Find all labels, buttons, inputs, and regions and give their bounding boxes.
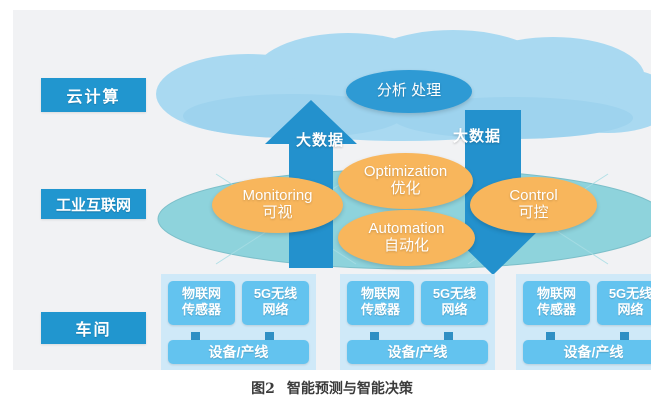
5g-network-box[interactable]: 5G无线 网络 <box>242 281 309 325</box>
node-monitoring-label-cn: 可视 <box>262 205 292 222</box>
5g-network-line2: 网络 <box>242 302 309 318</box>
equipment-line-box[interactable]: 设备/产线 <box>347 340 488 364</box>
node-analysis-label: 分析 处理 <box>377 83 441 100</box>
figure-panel: 大数据 大数据 分析 处理 Monitoring 可视 Optimization… <box>13 10 651 370</box>
tier-label-workshop-text: 车间 <box>75 316 111 340</box>
5g-network-line2: 网络 <box>597 302 651 318</box>
equipment-line-label: 设备/产线 <box>564 342 624 362</box>
iot-sensor-box[interactable]: 物联网 传感器 <box>168 281 235 325</box>
5g-network-line2: 网络 <box>421 302 488 318</box>
5g-network-box[interactable]: 5G无线 网络 <box>597 281 651 325</box>
workshop-top-row: 物联网 传感器 5G无线 网络 <box>168 281 309 325</box>
equipment-line-label: 设备/产线 <box>388 342 448 362</box>
sidebar-item-workshop[interactable]: 车间 <box>41 312 146 344</box>
figure-caption-number: 图2 <box>251 381 275 397</box>
iot-sensor-box[interactable]: 物联网 传感器 <box>347 281 414 325</box>
equipment-line-box[interactable]: 设备/产线 <box>168 340 309 364</box>
node-analysis[interactable]: 分析 处理 <box>346 70 472 113</box>
node-control[interactable]: Control 可控 <box>470 177 597 233</box>
iot-sensor-line1: 物联网 <box>182 286 221 301</box>
figure-caption-text: 智能预测与智能决策 <box>287 381 413 397</box>
iot-sensor-line2: 传感器 <box>347 302 414 318</box>
sidebar-item-cloud-computing[interactable]: 云计算 <box>41 78 146 112</box>
iot-sensor-line1: 物联网 <box>537 286 576 301</box>
sidebar-item-industrial-internet[interactable]: 工业互联网 <box>41 189 146 219</box>
node-automation-label-cn: 自动化 <box>384 238 429 255</box>
workshop-group: 物联网 传感器 5G无线 网络 设备/产线 <box>161 274 316 370</box>
node-automation[interactable]: Automation 自动化 <box>338 210 475 266</box>
5g-network-line1: 5G无线 <box>433 286 476 301</box>
node-monitoring[interactable]: Monitoring 可视 <box>212 177 343 233</box>
workshop-group: 物联网 传感器 5G无线 网络 设备/产线 <box>516 274 651 370</box>
node-control-label-en: Control <box>509 188 557 205</box>
node-optimization-label-cn: 优化 <box>390 181 420 198</box>
node-monitoring-label-en: Monitoring <box>242 188 312 205</box>
5g-network-box[interactable]: 5G无线 网络 <box>421 281 488 325</box>
bigdata-down-label: 大数据 <box>453 125 501 146</box>
equipment-line-box[interactable]: 设备/产线 <box>523 340 651 364</box>
node-automation-label-en: Automation <box>369 221 445 238</box>
iot-sensor-box[interactable]: 物联网 传感器 <box>523 281 590 325</box>
figure-caption: 图2智能预测与智能决策 <box>0 378 664 398</box>
iot-sensor-line1: 物联网 <box>361 286 400 301</box>
iot-sensor-line2: 传感器 <box>168 302 235 318</box>
equipment-line-label: 设备/产线 <box>209 342 269 362</box>
tier-label-cloud-text: 云计算 <box>66 83 120 107</box>
tier-label-iiot-text: 工业互联网 <box>56 194 131 215</box>
workshop-top-row: 物联网 传感器 5G无线 网络 <box>347 281 488 325</box>
5g-network-line1: 5G无线 <box>254 286 297 301</box>
5g-network-line1: 5G无线 <box>609 286 651 301</box>
workshop-top-row: 物联网 传感器 5G无线 网络 <box>523 281 651 325</box>
node-optimization-label-en: Optimization <box>364 164 447 181</box>
node-optimization[interactable]: Optimization 优化 <box>338 153 473 209</box>
workshop-group: 物联网 传感器 5G无线 网络 设备/产线 <box>340 274 495 370</box>
bigdata-up-label: 大数据 <box>296 129 344 150</box>
node-control-label-cn: 可控 <box>518 205 548 222</box>
iot-sensor-line2: 传感器 <box>523 302 590 318</box>
